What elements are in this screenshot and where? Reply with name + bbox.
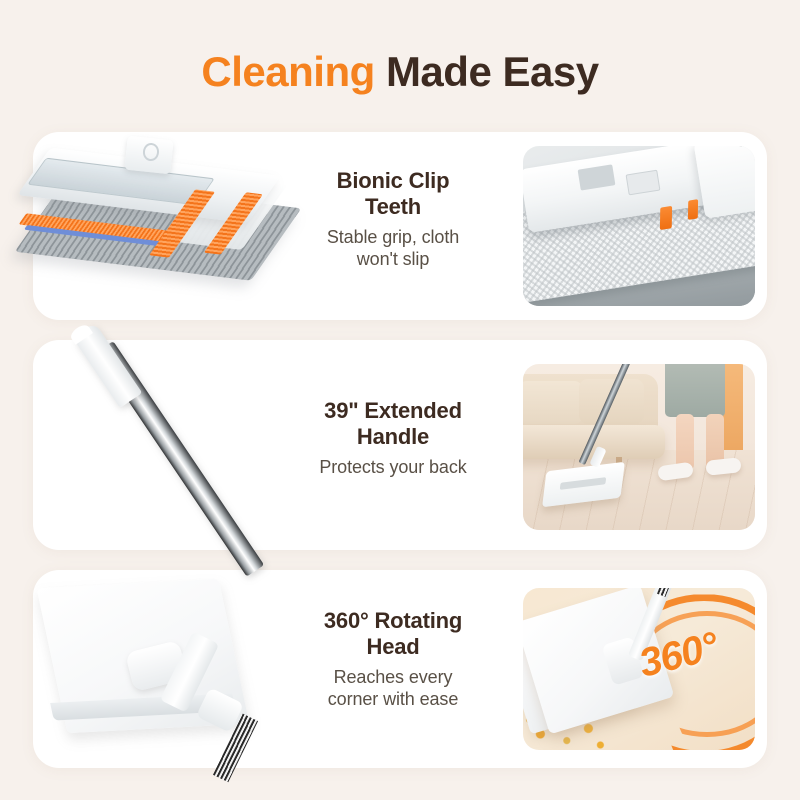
feature-2-subtitle-line1: Protects your back — [319, 457, 466, 477]
feature-text-bionic-clip-teeth: Bionic Clip Teeth Stable grip, cloth won… — [278, 168, 508, 271]
feature-1-title-line2: Teeth — [365, 194, 421, 219]
feature-3-subtitle: Reaches every corner with ease — [278, 667, 508, 711]
feature-3-subtitle-line1: Reaches every — [334, 667, 453, 687]
photo-1-orange-clip-a — [660, 206, 672, 231]
feature-3-title: 360° Rotating Head — [278, 608, 508, 660]
infographic-page: Cleaning Made Easy Bionic Clip Teeth Sta… — [0, 0, 800, 800]
product-art-rotating-head — [30, 578, 320, 778]
page-title: Cleaning Made Easy — [0, 48, 800, 96]
feature-text-rotating-head: 360° Rotating Head Reaches every corner … — [278, 608, 508, 711]
feature-1-title: Bionic Clip Teeth — [278, 168, 508, 220]
feature-3-title-line1: 360° Rotating — [324, 608, 462, 633]
product-art-mop-head-underside — [10, 140, 300, 310]
photo-1-head-end-block — [694, 146, 755, 219]
feature-1-subtitle: Stable grip, cloth won't slip — [278, 227, 508, 271]
feature-2-title: 39" Extended Handle — [278, 398, 508, 450]
feature-2-photo-person-mopping — [523, 364, 755, 530]
photo-2-person-skirt — [665, 364, 725, 417]
photo-1-orange-clip-b — [688, 199, 699, 220]
feature-text-extended-handle: 39" Extended Handle Protects your back — [278, 398, 508, 479]
photo-2-sofa-cushion-a — [523, 381, 583, 424]
feature-2-subtitle: Protects your back — [278, 457, 508, 479]
feature-3-photo-rotating-head: 360° — [523, 588, 755, 750]
feature-3-title-line2: Head — [367, 634, 420, 659]
feature-1-subtitle-line1: Stable grip, cloth — [327, 227, 459, 247]
feature-2-title-line1: 39" Extended — [324, 398, 462, 423]
feature-2-title-line2: Handle — [357, 424, 429, 449]
feature-3-subtitle-line2: corner with ease — [328, 689, 458, 709]
feature-1-title-line1: Bionic Clip — [337, 168, 450, 193]
feature-1-photo-clip-gripping-cloth — [523, 146, 755, 306]
page-title-rest: Made Easy — [375, 48, 599, 95]
feature-1-subtitle-line2: won't slip — [357, 249, 429, 269]
page-title-accent: Cleaning — [201, 48, 374, 95]
